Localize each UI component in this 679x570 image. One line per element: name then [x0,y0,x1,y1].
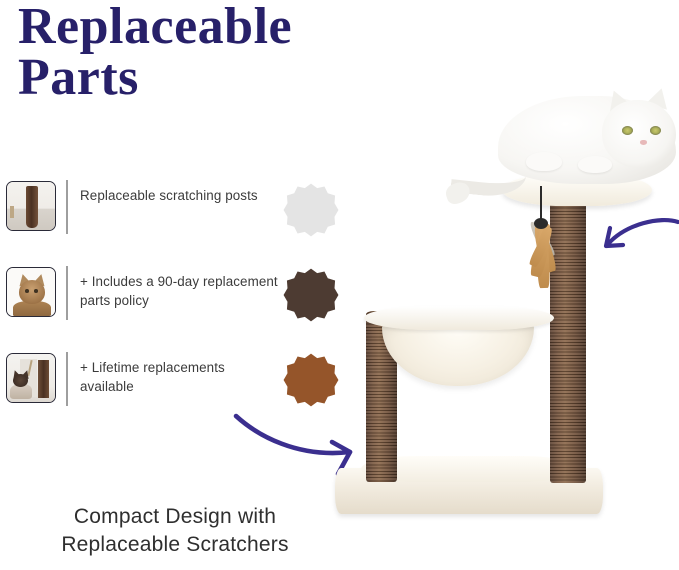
tabby-cat-thumbnail [6,267,56,317]
cat-paw-front [526,152,562,171]
toy-string [540,186,542,220]
siamese-cat-thumbnail [6,353,56,403]
cat-eye-left [622,126,633,135]
feature-divider [66,266,68,320]
feature-label: + Includes a 90-day replacement parts po… [80,264,280,311]
cat-nose [640,140,647,145]
feature-divider [66,180,68,234]
page-title-line-2: Parts [18,53,378,104]
feature-label: + Lifetime replacements available [80,350,280,397]
feature-label: Replaceable scratching posts [80,178,258,205]
bottom-caption: Compact Design with Replaceable Scratche… [0,503,350,559]
caption-line-2: Replaceable Scratchers [0,531,350,559]
cat-eye-right [650,126,661,135]
hammock-rim [364,306,554,330]
cat-paw-rear [578,156,612,173]
cat-head [602,100,676,168]
caption-line-1: Compact Design with [0,503,350,531]
scratching-post-right [550,198,586,483]
page-title: Replaceable Parts [18,2,378,104]
page-title-line-1: Replaceable [18,2,378,53]
cat-tree-product-image [330,78,679,530]
scratching-post-thumbnail [6,181,56,231]
toy-knot [534,218,548,229]
feature-divider [66,352,68,406]
